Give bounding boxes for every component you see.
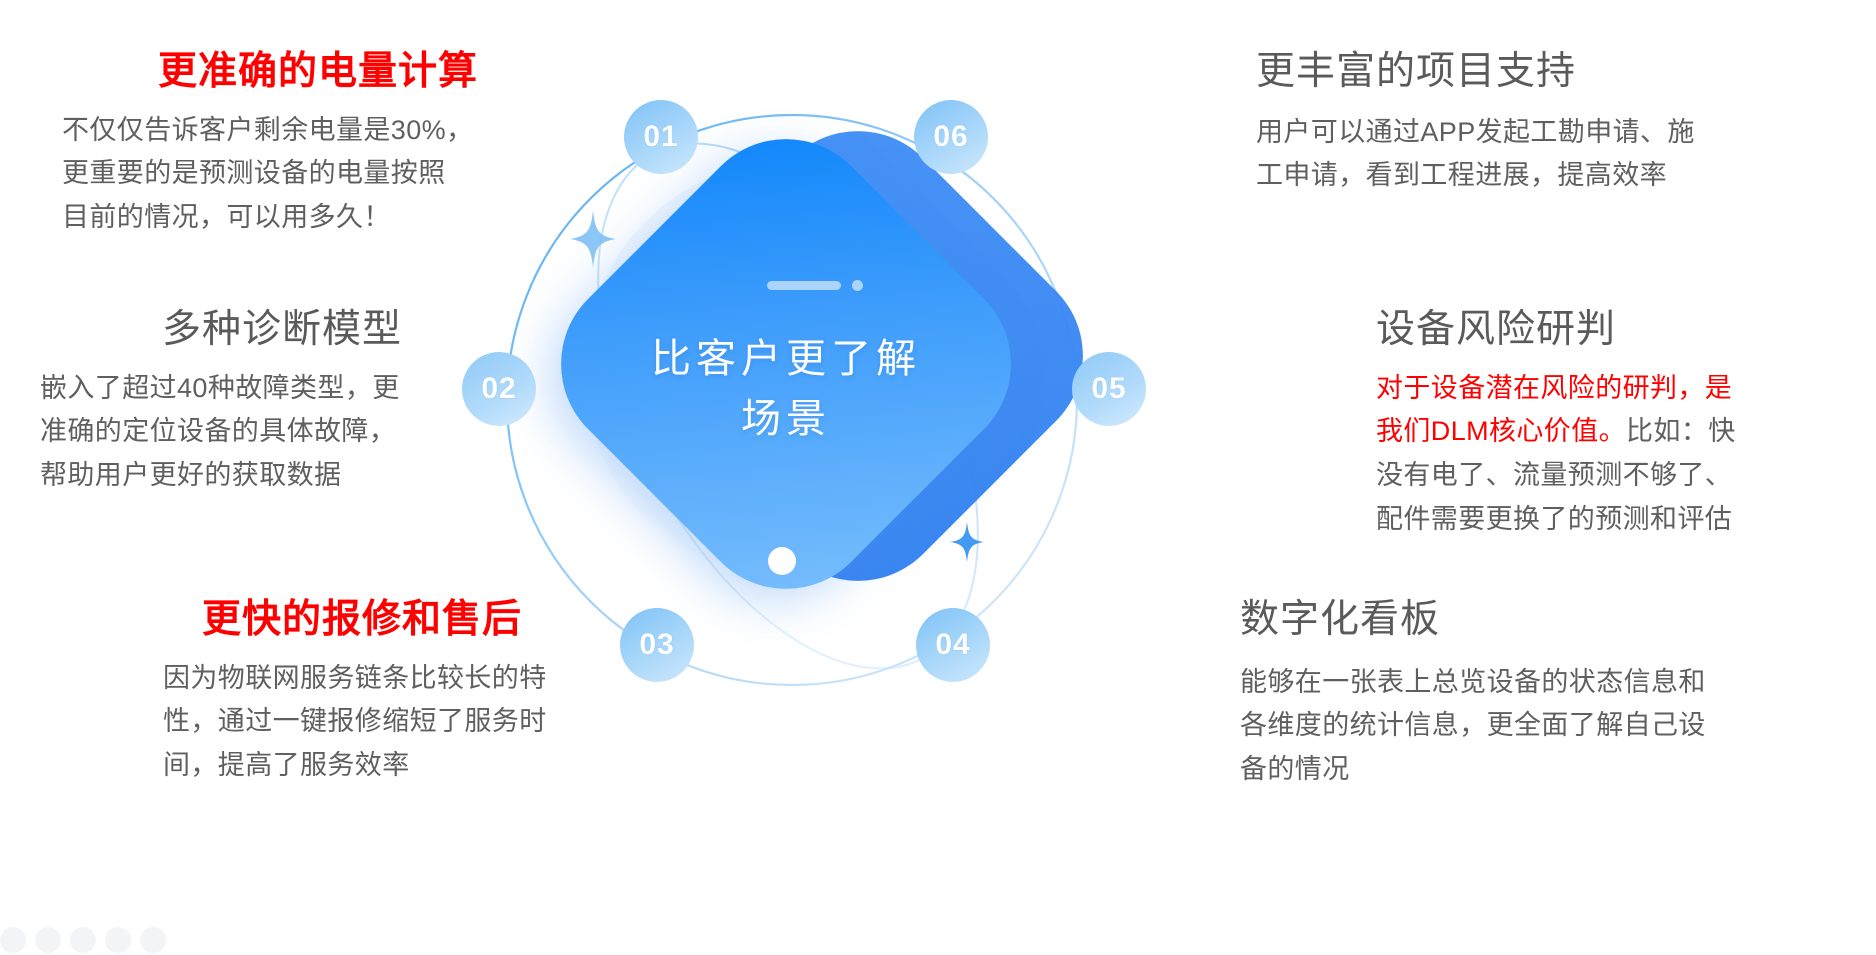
feature-block-04: 数字化看板 能够在一张表上总览设备的状态信息和 各维度的统计信息，更全面了解自己… (1240, 596, 1800, 792)
feature-body-02-line3: 帮助用户更好的获取数据 (40, 454, 510, 498)
feature-body-02-line1: 嵌入了超过40种故障类型，更 (40, 367, 510, 411)
badge-03[interactable]: 03 (620, 608, 694, 682)
feature-body-05-line3: 没有电了、流量预测不够了、 (1376, 454, 1846, 498)
badge-05[interactable]: 05 (1072, 352, 1146, 426)
badge-01-label: 01 (643, 120, 678, 154)
center-title-line1: 比客户更了解 (651, 337, 921, 381)
feature-body-05-line2-tail: 比如：快 (1626, 416, 1736, 446)
badge-06[interactable]: 06 (914, 100, 988, 174)
decorative-dot-row (0, 927, 166, 953)
decor-dot-icon (852, 280, 863, 291)
center-content: 比客户更了解 场景 (600, 178, 972, 550)
feature-body-05-line2-red: 我们DLM核心价值。 (1376, 416, 1626, 446)
feature-title-05: 设备风险研判 (1376, 306, 1846, 355)
decorative-dot (105, 927, 131, 953)
feature-block-06: 更丰富的项目支持 用户可以通过APP发起工勘申请、施 工申请，看到工程进展，提高… (1256, 48, 1816, 198)
feature-title-06: 更丰富的项目支持 (1256, 48, 1816, 97)
decorative-dot (140, 927, 166, 953)
infographic-canvas: 更准确的电量计算 不仅仅告诉客户剩余电量是30%， 更重要的是预测设备的电量按照… (0, 0, 1876, 955)
feature-body-03-line3: 间，提高了服务效率 (163, 744, 600, 788)
feature-body-05: 对于设备潜在风险的研判，是 我们DLM核心价值。比如：快 没有电了、流量预测不够… (1376, 367, 1846, 542)
badge-02[interactable]: 02 (462, 352, 536, 426)
feature-body-06-line2: 工申请，看到工程进展，提高效率 (1256, 154, 1816, 198)
decorative-dot (70, 927, 96, 953)
feature-body-02-line2: 准确的定位设备的具体故障， (40, 410, 510, 454)
feature-block-02: 多种诊断模型 嵌入了超过40种故障类型，更 准确的定位设备的具体故障， 帮助用户… (40, 306, 510, 498)
feature-body-05-line2: 我们DLM核心价值。比如：快 (1376, 410, 1846, 454)
decorative-dot (35, 927, 61, 953)
badge-05-label: 05 (1091, 372, 1126, 406)
center-title-line2: 场景 (651, 389, 921, 449)
feature-body-05-line1: 对于设备潜在风险的研判，是 (1376, 367, 1846, 411)
decor-bar-icon (767, 281, 841, 290)
center-base-dot-icon (768, 547, 796, 575)
sparkle-icon (570, 210, 616, 268)
feature-body-05-line4: 配件需要更换了的预测和评估 (1376, 498, 1846, 542)
badge-03-label: 03 (639, 628, 674, 662)
feature-title-04: 数字化看板 (1240, 596, 1800, 645)
feature-body-04-line1: 能够在一张表上总览设备的状态信息和 (1240, 661, 1800, 705)
badge-01[interactable]: 01 (624, 100, 698, 174)
feature-body-05-line1-red: 对于设备潜在风险的研判，是 (1376, 373, 1732, 403)
center-decoration (767, 280, 863, 291)
badge-04[interactable]: 04 (916, 608, 990, 682)
badge-02-label: 02 (481, 372, 516, 406)
feature-body-02: 嵌入了超过40种故障类型，更 准确的定位设备的具体故障， 帮助用户更好的获取数据 (40, 367, 510, 498)
badge-06-label: 06 (933, 120, 968, 154)
feature-block-05: 设备风险研判 对于设备潜在风险的研判，是 我们DLM核心价值。比如：快 没有电了… (1376, 306, 1846, 542)
feature-body-06: 用户可以通过APP发起工勘申请、施 工申请，看到工程进展，提高效率 (1256, 111, 1816, 198)
center-title: 比客户更了解 场景 (651, 329, 921, 449)
feature-body-04-line3: 备的情况 (1240, 748, 1800, 792)
sparkle-small-icon (950, 522, 984, 562)
decorative-dot (0, 927, 26, 953)
badge-04-label: 04 (935, 628, 970, 662)
feature-body-04: 能够在一张表上总览设备的状态信息和 各维度的统计信息，更全面了解自己设 备的情况 (1240, 661, 1800, 792)
feature-body-06-line1: 用户可以通过APP发起工勘申请、施 (1256, 111, 1816, 155)
center-graphic: 比客户更了解 场景 01 06 02 05 03 04 (452, 60, 1132, 740)
feature-body-04-line2: 各维度的统计信息，更全面了解自己设 (1240, 704, 1800, 748)
